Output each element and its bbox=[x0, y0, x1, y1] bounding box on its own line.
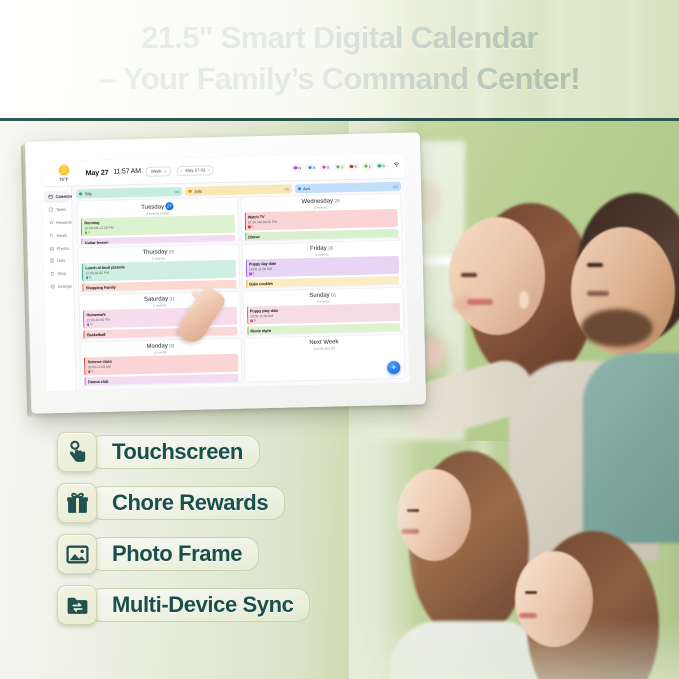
day-column[interactable]: Friday303 eventsPuppy day date10:00-11:0… bbox=[241, 240, 404, 289]
view-selector-label: Week bbox=[151, 168, 162, 173]
calendar-event[interactable]: Homework12:00-01:00 PMN bbox=[83, 307, 237, 329]
day-number: 28 bbox=[334, 198, 339, 203]
day-header: Tuesday274 events today bbox=[80, 201, 234, 217]
smart-calendar-device: 70°F May 27 11:57 AM Week ⌄ ‹ May 27-02 … bbox=[25, 132, 426, 413]
day-column[interactable]: Saturday314 eventsHomework12:00-01:00 PM… bbox=[78, 291, 241, 340]
calendar-icon bbox=[48, 194, 53, 199]
member-chip[interactable]: A bbox=[305, 164, 317, 171]
day-column[interactable]: Sunday012 eventsPuppy play date10:00-11:… bbox=[242, 287, 405, 336]
legend-member-count: 0/0 bbox=[175, 190, 180, 194]
sidebar-item-calendar[interactable]: Calendar bbox=[44, 191, 69, 203]
member-initial: N bbox=[298, 166, 301, 170]
day-column[interactable]: Next WeekJun 03-Jun 09+ bbox=[243, 334, 406, 383]
header-divider bbox=[0, 118, 679, 121]
legend-member-count: 2/8 bbox=[284, 187, 289, 191]
sidebar-item-label: Rewards bbox=[56, 220, 71, 225]
member-chip[interactable]: N bbox=[291, 164, 304, 171]
sidebar-item-label: Calendar bbox=[56, 194, 73, 199]
app-sidebar: CalendarTasksRewardsMealsPhotosListsShop… bbox=[42, 187, 77, 392]
member-initial: S bbox=[382, 164, 384, 168]
sun-icon bbox=[58, 165, 69, 176]
event-member-dot bbox=[249, 273, 252, 276]
wifi-icon bbox=[393, 161, 399, 169]
member-color-dot bbox=[322, 165, 325, 168]
legend-member[interactable]: Silly0/0 bbox=[76, 187, 183, 199]
feature-badge: Photo Frame bbox=[57, 534, 310, 574]
day-name: Wednesday bbox=[301, 198, 333, 205]
calendar-event[interactable]: Watch TV07:30 AM-08:30 PMS bbox=[244, 209, 398, 231]
member-chip[interactable]: S bbox=[347, 163, 359, 170]
day-name: Saturday bbox=[144, 296, 168, 303]
sidebar-item-label: Shop bbox=[57, 271, 66, 276]
touch-hand-icon bbox=[57, 432, 97, 472]
photo-icon bbox=[57, 534, 97, 574]
day-column[interactable]: Wednesday284 eventsWatch TV07:30 AM-08:3… bbox=[240, 193, 403, 242]
legend-member[interactable]: Ava0/2 bbox=[295, 182, 402, 194]
day-number: 02 bbox=[169, 343, 174, 348]
header-band bbox=[0, 0, 679, 118]
member-chip[interactable]: L bbox=[362, 163, 374, 170]
calendar-event[interactable]: Drama club04:00-05:00 PM bbox=[84, 374, 238, 386]
calendar-event[interactable]: Puppy day date10:00-11:00 AME bbox=[245, 256, 399, 278]
feature-badge: Multi-Device Sync bbox=[57, 585, 310, 625]
legend-color-dot bbox=[188, 190, 191, 193]
calendar-content: Silly0/0Julia2/8Ava0/2 Tuesday274 events… bbox=[72, 179, 410, 391]
calendar-event[interactable]: Science class10:00-11:00 AMS bbox=[84, 354, 238, 376]
feature-label: Chore Rewards bbox=[89, 486, 285, 520]
day-column[interactable]: Monday024 eventsScience class10:00-11:00… bbox=[80, 338, 243, 387]
day-name: Next Week bbox=[309, 339, 338, 346]
sidebar-item-label: Tasks bbox=[56, 207, 66, 212]
sidebar-item-tasks[interactable]: Tasks bbox=[44, 203, 69, 215]
tasks-icon bbox=[48, 207, 53, 212]
day-header: Next WeekJun 03-Jun 09 bbox=[247, 338, 401, 352]
member-initial: A bbox=[313, 165, 315, 169]
event-member-dot bbox=[250, 320, 253, 323]
member-color-dot bbox=[336, 165, 339, 168]
add-event-button[interactable]: + bbox=[387, 361, 400, 374]
sidebar-item-label: Photos bbox=[57, 245, 69, 250]
feature-label: Touchscreen bbox=[89, 435, 260, 469]
day-name: Friday bbox=[310, 246, 327, 252]
legend-color-dot bbox=[79, 192, 82, 195]
sidebar-item-label: Settings bbox=[58, 283, 72, 288]
member-chip-row: NAXJSLS bbox=[291, 162, 388, 171]
meals-icon bbox=[49, 233, 54, 238]
sidebar-item-lists[interactable]: Lists bbox=[46, 255, 71, 267]
day-name: Tuesday bbox=[141, 204, 164, 211]
gift-icon bbox=[57, 483, 97, 523]
member-color-dot bbox=[378, 164, 381, 167]
event-member-dot bbox=[84, 231, 87, 234]
week-grid: Tuesday274 events todayRunning10:00 AM-1… bbox=[72, 193, 409, 391]
sidebar-item-settings[interactable]: Settings bbox=[46, 280, 71, 292]
member-color-dot bbox=[364, 164, 367, 167]
feature-label: Photo Frame bbox=[89, 537, 259, 571]
day-name: Monday bbox=[146, 343, 167, 350]
day-column[interactable]: Thursday293 eventsLunch at local pizzeri… bbox=[77, 244, 240, 293]
legend-color-dot bbox=[298, 187, 301, 190]
feature-label: Multi-Device Sync bbox=[89, 588, 310, 622]
rewards-icon bbox=[49, 220, 54, 225]
event-member-dot bbox=[87, 323, 90, 326]
sync-folder-icon bbox=[57, 585, 97, 625]
calendar-event[interactable]: Lunch at local pizzeria12:00-01:00 PME bbox=[82, 260, 236, 282]
feature-badge: Chore Rewards bbox=[57, 483, 310, 523]
member-color-dot bbox=[294, 166, 297, 169]
day-name: Sunday bbox=[309, 293, 329, 299]
sidebar-item-meals[interactable]: Meals bbox=[45, 229, 70, 241]
feature-badge-list: TouchscreenChore RewardsPhoto FrameMulti… bbox=[57, 432, 310, 625]
member-initial: L bbox=[369, 164, 371, 168]
event-member-initial: E bbox=[89, 276, 91, 280]
event-member-dot bbox=[88, 370, 91, 373]
photos-icon bbox=[49, 246, 54, 251]
day-number: 30 bbox=[328, 245, 333, 250]
calendar-event[interactable]: Running10:00 AM-12:00 PMJ bbox=[81, 215, 235, 237]
member-color-dot bbox=[308, 166, 311, 169]
member-chip[interactable]: X bbox=[320, 164, 332, 171]
legend-member-count: 0/2 bbox=[393, 184, 398, 188]
legend-member-name: Ava bbox=[303, 186, 310, 191]
sidebar-item-label: Meals bbox=[57, 232, 68, 237]
legend-member-name: Julia bbox=[194, 189, 202, 194]
weather-widget[interactable]: 70°F bbox=[46, 164, 80, 182]
current-time-label: 11:57 AM bbox=[113, 168, 141, 176]
temperature-label: 70°F bbox=[47, 176, 81, 182]
member-chip[interactable]: S bbox=[375, 162, 387, 169]
device-screen[interactable]: 70°F May 27 11:57 AM Week ⌄ ‹ May 27-02 … bbox=[41, 153, 409, 391]
sidebar-item-rewards[interactable]: Rewards bbox=[45, 216, 70, 228]
member-color-dot bbox=[350, 165, 353, 168]
settings-icon bbox=[50, 284, 55, 289]
prev-week-icon[interactable]: ‹ bbox=[181, 168, 183, 173]
sidebar-item-photos[interactable]: Photos bbox=[45, 242, 70, 254]
date-range-nav[interactable]: ‹ May 27-02 › bbox=[177, 165, 214, 176]
legend-member[interactable]: Julia2/8 bbox=[185, 184, 292, 196]
day-column[interactable]: Tuesday274 events todayRunning10:00 AM-1… bbox=[76, 197, 239, 246]
event-member-dot bbox=[86, 276, 89, 279]
day-number: 29 bbox=[169, 249, 174, 254]
member-initial: X bbox=[327, 165, 329, 169]
event-member-initial: A bbox=[254, 319, 256, 323]
legend-member-name: Silly bbox=[84, 191, 91, 196]
day-name: Thursday bbox=[142, 249, 167, 256]
event-member-initial: E bbox=[253, 272, 255, 276]
event-member-initial: S bbox=[91, 370, 93, 374]
event-member-initial: N bbox=[90, 323, 92, 327]
day-number: 27 bbox=[165, 202, 173, 210]
day-number: 31 bbox=[169, 296, 174, 301]
next-week-icon[interactable]: › bbox=[208, 167, 210, 172]
view-selector[interactable]: Week ⌄ bbox=[146, 166, 172, 177]
calendar-event[interactable]: Puppy play date10:00-11:00 AMA bbox=[246, 303, 400, 325]
chevron-down-icon: ⌄ bbox=[163, 168, 167, 173]
date-range-label: May 27-02 bbox=[185, 167, 205, 172]
lists-icon bbox=[50, 258, 55, 263]
feature-badge: Touchscreen bbox=[57, 432, 310, 472]
member-chip[interactable]: J bbox=[334, 163, 346, 170]
member-initial: J bbox=[341, 165, 343, 169]
sidebar-item-label: Lists bbox=[57, 258, 65, 263]
event-member-initial: S bbox=[251, 225, 253, 229]
sidebar-item-shop[interactable]: Shop bbox=[46, 267, 71, 279]
day-number: 01 bbox=[331, 292, 336, 297]
current-date-label: May 27 bbox=[85, 168, 108, 178]
member-initial: S bbox=[355, 164, 357, 168]
event-member-dot bbox=[248, 226, 251, 229]
shop-icon bbox=[50, 271, 55, 276]
event-member-initial: J bbox=[88, 231, 90, 235]
